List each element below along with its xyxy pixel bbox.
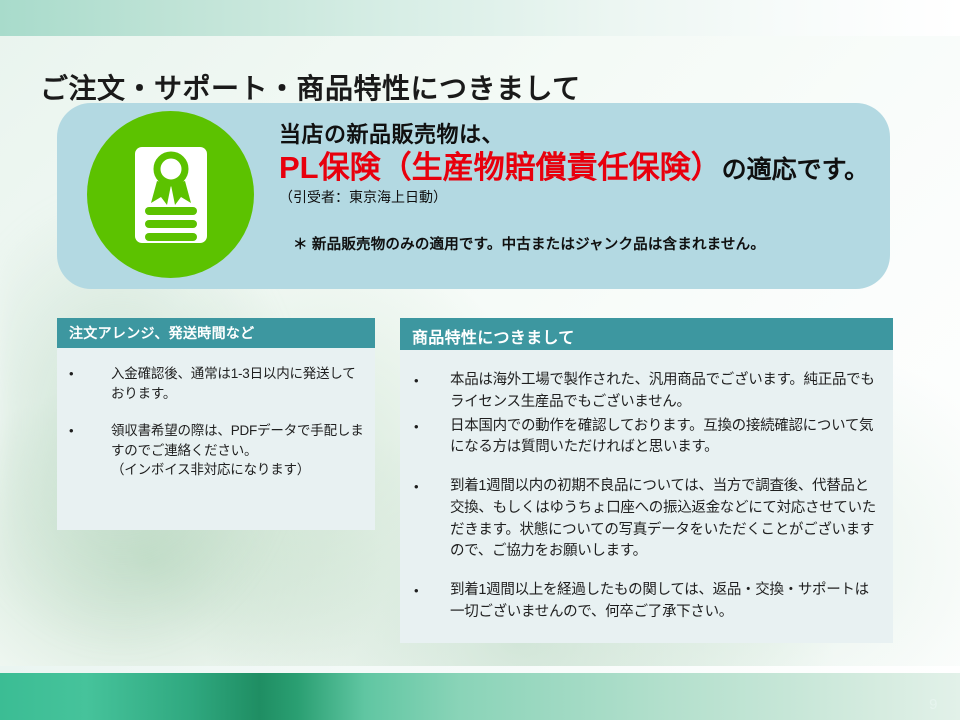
list-item: 到着1週間以上を経過したもの関しては、返品・交換・サポートは一切ございませんので… [414,580,879,624]
callout-text-block: 当店の新品販売物は、 PL保険（生産物賠償責任保険）の適応です。 （引受者：東京… [279,117,876,254]
callout-line-1: 当店の新品販売物は、 [279,117,876,149]
callout-tail-text: の適応です。 [722,156,870,184]
callout-highlight-text: PL保険（生産物賠償責任保険） [279,150,722,185]
insurance-callout-box: 当店の新品販売物は、 PL保険（生産物賠償責任保険）の適応です。 （引受者：東京… [57,103,890,289]
callout-underwriter-note: （引受者：東京海上日動） [279,187,876,207]
page-number: 9 [929,697,938,712]
top-decorative-band [0,0,960,36]
order-info-panel-header: 注文アレンジ、発送時間など [57,318,375,348]
order-info-panel-body: 入金確認後、通常は1-3日以内に発送しております。 領収書希望の際は、PDFデー… [57,348,375,508]
order-info-bullet-list: 入金確認後、通常は1-3日以内に発送しております。 領収書希望の際は、PDFデー… [69,364,365,480]
list-item: 入金確認後、通常は1-3日以内に発送しております。 [69,364,365,403]
list-item: 到着1週間以内の初期不良品については、当方で調査後、代替品と交換、もしくはゆうち… [414,476,879,563]
product-notes-bullet-list: 本品は海外工場で製作された、汎用商品でございます。純正品でもライセンス生産品でも… [414,370,879,624]
list-item: 本品は海外工場で製作された、汎用商品でございます。純正品でもライセンス生産品でも… [414,370,879,414]
certificate-award-icon [87,111,254,278]
callout-line-2: PL保険（生産物賠償責任保険）の適応です。 [279,150,876,186]
callout-footnote: ＊ 新品販売物のみの適用です。中古またはジャンク品は含まれません。 [293,233,876,254]
list-item: 領収書希望の際は、PDFデータで手配しますのでご連絡ください。 （インボイス非対… [69,421,365,480]
page-title: ご注文・サポート・商品特性につきまして [40,67,581,107]
order-info-panel: 注文アレンジ、発送時間など 入金確認後、通常は1-3日以内に発送しております。 … [57,318,375,530]
product-notes-panel-body: 本品は海外工場で製作された、汎用商品でございます。純正品でもライセンス生産品でも… [400,350,893,634]
product-notes-panel-header: 商品特性につきまして [400,318,893,350]
slide-canvas: ご注文・サポート・商品特性につきまして 当店の新品販売物は、 PL保険（生産物賠… [0,0,960,720]
product-notes-panel: 商品特性につきまして 本品は海外工場で製作された、汎用商品でございます。純正品で… [400,318,893,643]
list-item: 日本国内での動作を確認しております。互換の接続確認について気になる方は質問いただ… [414,416,879,460]
bottom-decorative-band: 9 [0,673,960,720]
bottom-band-divider [0,666,960,673]
